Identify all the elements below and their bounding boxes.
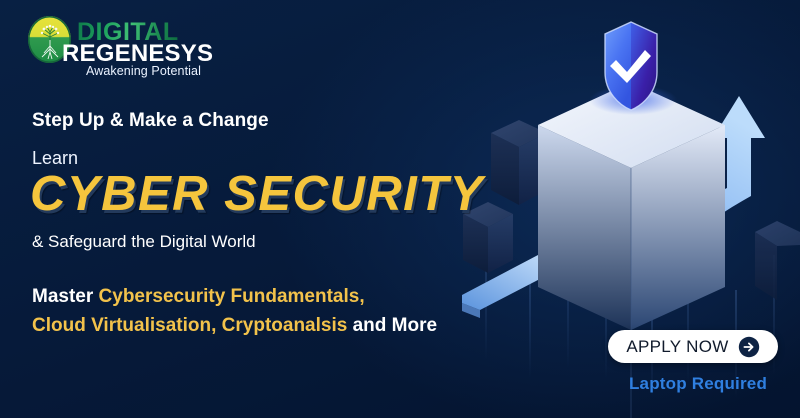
topics-prefix: Master	[32, 286, 99, 307]
block-far-right	[755, 221, 800, 300]
curved-up-arrow	[653, 96, 765, 268]
page-title: CYBER SECURITY	[30, 170, 484, 219]
topics-highlight-1: Cybersecurity Fundamentals,	[99, 286, 365, 307]
arrow-right-circle-icon	[738, 336, 760, 358]
course-topics: Master Cybersecurity Fundamentals, Cloud…	[32, 282, 437, 341]
main-pillar	[538, 82, 725, 418]
block-right	[632, 202, 682, 272]
apply-now-button[interactable]: APPLY NOW	[608, 330, 778, 363]
laptop-required-note: Laptop Required	[618, 374, 778, 394]
headline-learn: Learn	[32, 148, 78, 169]
logo-tagline: Awakening Potential	[86, 65, 201, 78]
headline-subtitle: & Safeguard the Digital World	[32, 232, 256, 252]
shield-check-icon	[605, 22, 657, 110]
course-topics-line-2: Cloud Virtualisation, Cryptoanalsis and …	[32, 311, 437, 340]
shield-glow	[589, 85, 677, 115]
cyber-security-ad-banner: DIGITAL REGENESYS Awakening Potential St…	[0, 0, 800, 418]
topics-highlight-2: Cloud Virtualisation, Cryptoanalsis	[32, 315, 347, 336]
block-back-left	[491, 120, 547, 205]
logo-word-regenesys: REGENESYS	[62, 42, 213, 66]
topics-suffix: and More	[347, 315, 437, 336]
apply-now-label: APPLY NOW	[626, 337, 728, 357]
brand-logo[interactable]: DIGITAL REGENESYS Awakening Potential	[28, 12, 203, 74]
ribbon-path	[462, 225, 615, 318]
headline-kicker: Step Up & Make a Change	[32, 110, 269, 132]
course-topics-line-1: Master Cybersecurity Fundamentals,	[32, 282, 437, 311]
